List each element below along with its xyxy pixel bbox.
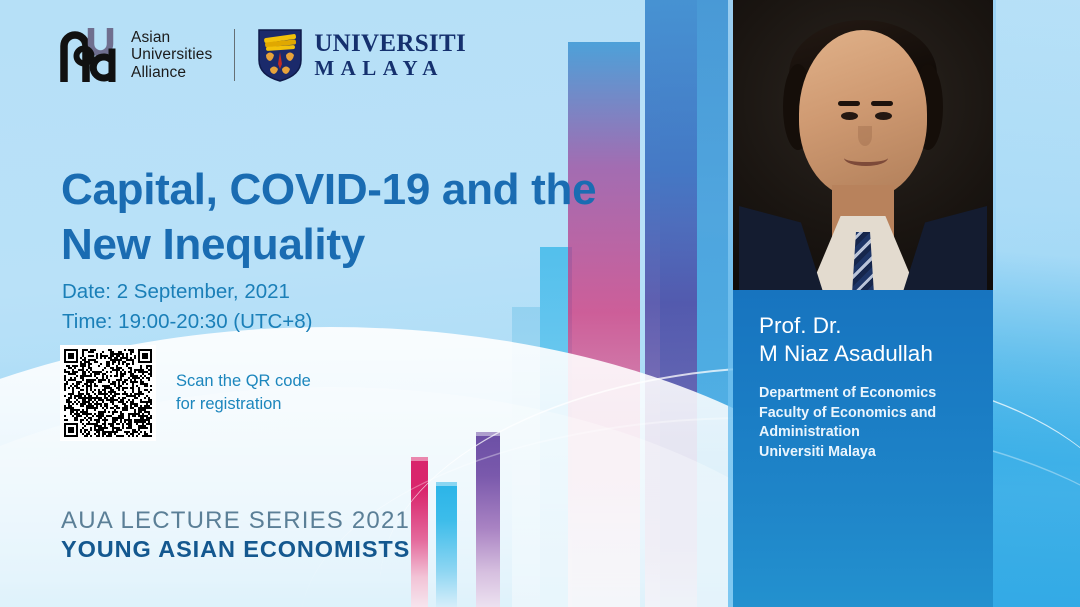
speaker-name-line2: M Niaz Asadullah: [759, 340, 993, 368]
aua-text-line3: Alliance: [131, 64, 186, 81]
aua-text-line2: Universities: [131, 46, 212, 63]
series-line-1: AUA LECTURE SERIES 2021: [61, 506, 410, 535]
universiti-malaya-wordmark: UNIVERSITI MALAYA: [314, 31, 466, 80]
speaker-info-panel: Prof. Dr. M Niaz Asadullah Department of…: [733, 290, 993, 607]
poster-canvas: Asian Universities Alliance: [0, 0, 1080, 607]
logo-bar: Asian Universities Alliance: [60, 28, 466, 82]
speaker-portrait: [733, 0, 993, 290]
universiti-malaya-logo[interactable]: UNIVERSITI MALAYA: [257, 28, 466, 82]
affiliation-line4: Universiti Malaya: [759, 443, 993, 463]
registration-block: Scan the QR code for registration: [60, 345, 311, 441]
lecture-series-label: AUA LECTURE SERIES 2021 YOUNG ASIAN ECON…: [61, 506, 410, 564]
aua-monogram-icon: [60, 28, 122, 82]
portrait-eye-left: [841, 112, 858, 120]
aua-logo-text: Asian Universities Alliance: [131, 29, 212, 82]
qr-caption: Scan the QR code for registration: [176, 370, 311, 416]
portrait-brow-left: [838, 101, 860, 106]
chart-bar-cap: [411, 457, 428, 461]
event-time: Time: 19:00-20:30 (UTC+8): [62, 307, 312, 337]
aua-text-line1: Asian: [131, 29, 170, 46]
portrait-eye-right: [875, 112, 892, 120]
event-date: Date: 2 September, 2021: [62, 277, 312, 307]
speaker-name-line1: Prof. Dr.: [759, 312, 993, 340]
portrait-smile: [844, 150, 888, 166]
speaker-name: Prof. Dr. M Niaz Asadullah: [759, 312, 993, 368]
portrait-face: [799, 30, 927, 198]
qr-caption-line1: Scan the QR code: [176, 372, 311, 390]
um-text-line1: UNIVERSITI: [314, 31, 466, 56]
affiliation-line3: Administration: [759, 423, 993, 443]
portrait-nose: [858, 126, 872, 146]
speaker-portrait-right-edge: [993, 0, 996, 290]
portrait-brow-right: [871, 101, 893, 106]
qr-caption-line2: for registration: [176, 395, 281, 413]
um-text-line2: MALAYA: [314, 56, 466, 80]
series-line-2: YOUNG ASIAN ECONOMISTS: [61, 535, 410, 564]
logo-divider: [234, 29, 235, 81]
page-title: Capital, COVID-19 and the New Inequality: [61, 162, 621, 272]
universiti-malaya-crest-icon: [257, 28, 303, 82]
speaker-affiliation: Department of Economics Faculty of Econo…: [759, 384, 993, 462]
affiliation-line2: Faculty of Economics and: [759, 404, 993, 424]
aua-logo[interactable]: Asian Universities Alliance: [60, 28, 212, 82]
event-datetime: Date: 2 September, 2021 Time: 19:00-20:3…: [62, 277, 312, 337]
affiliation-line1: Department of Economics: [759, 384, 993, 404]
qr-code-icon[interactable]: [60, 345, 156, 441]
